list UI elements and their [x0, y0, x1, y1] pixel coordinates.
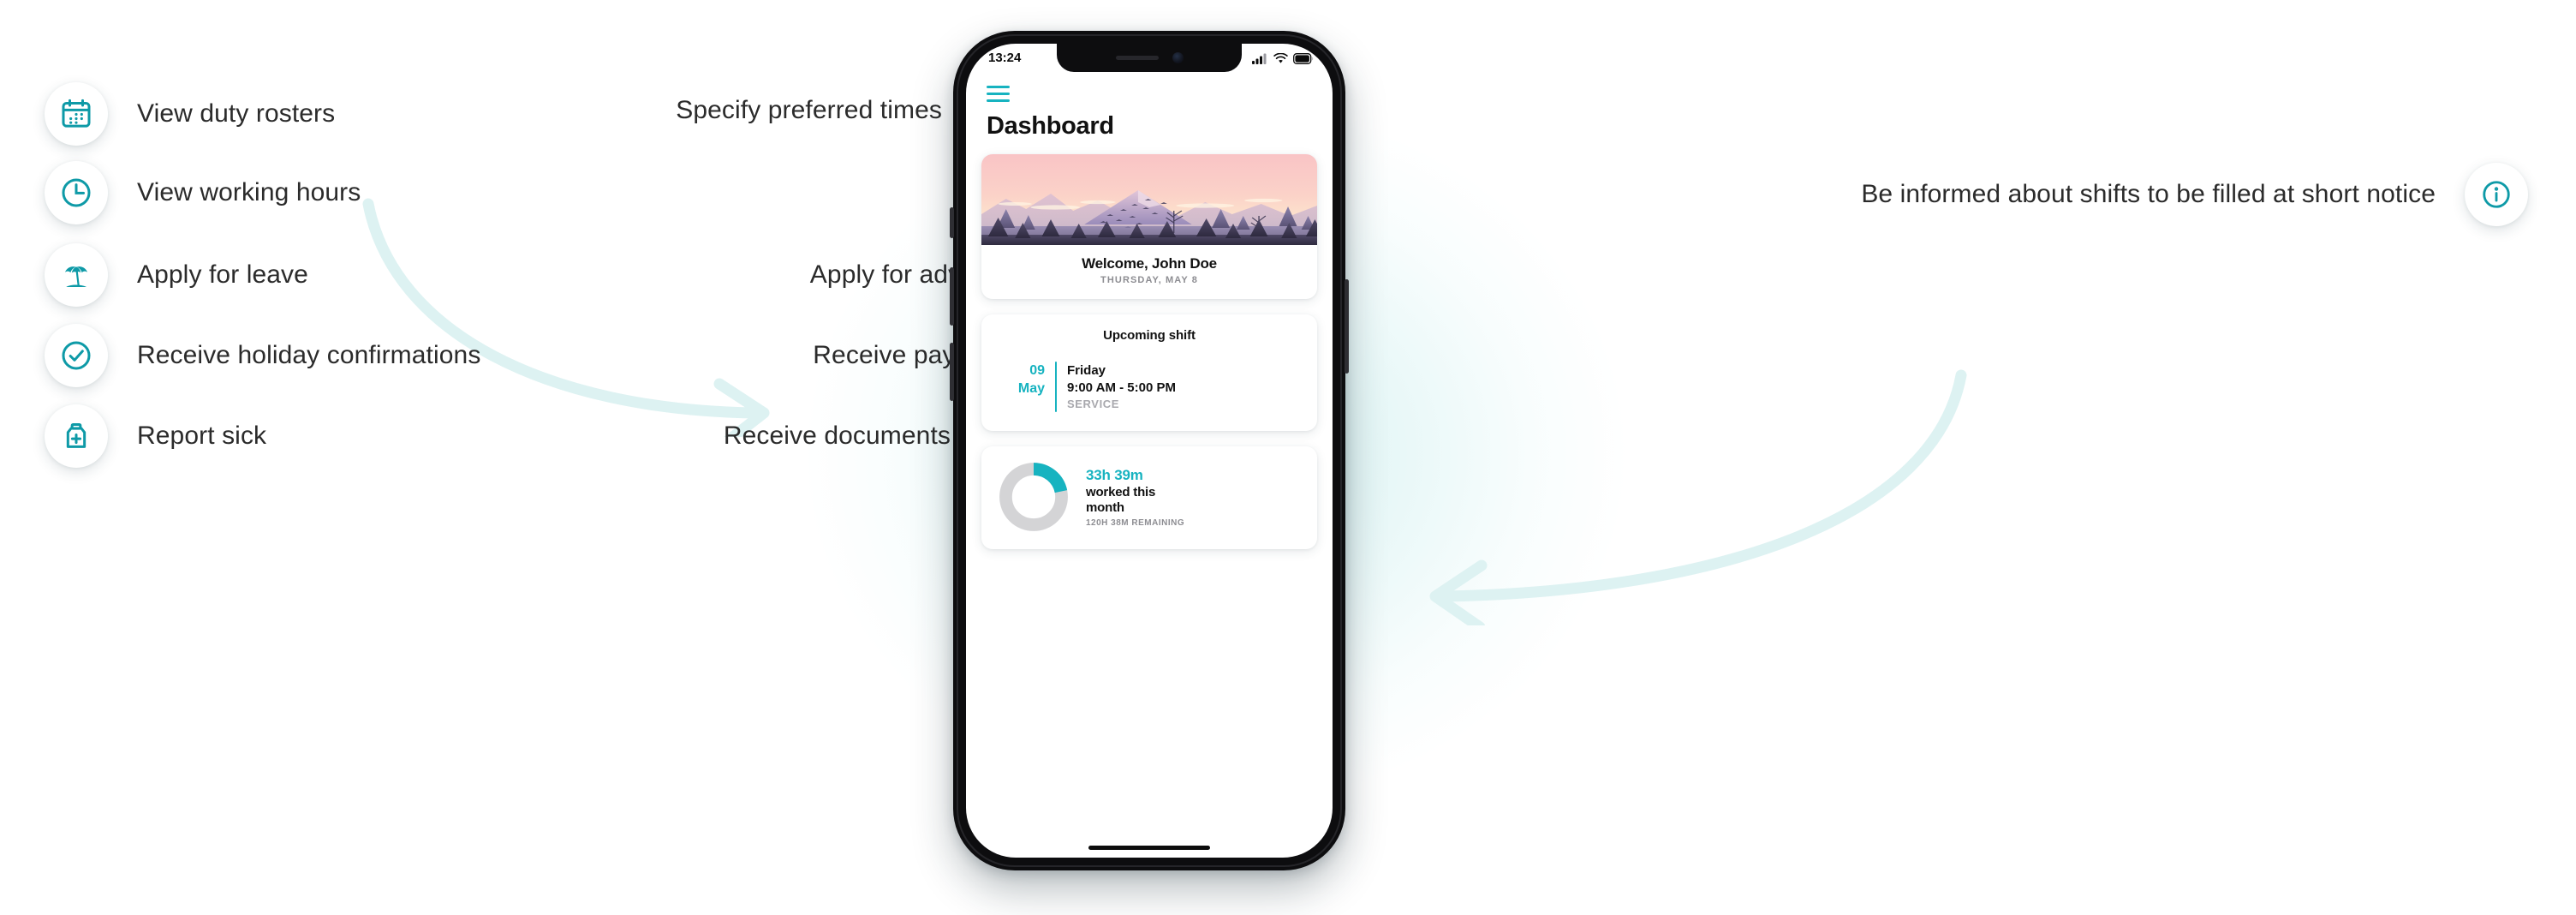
feature-receive-holiday-confirmations[interactable]: Receive holiday confirmations — [45, 324, 480, 387]
shift-month: May — [1017, 380, 1045, 398]
feature-label: View duty rosters — [137, 99, 335, 129]
upcoming-shift-title: Upcoming shift — [981, 328, 1317, 343]
beach-umbrella-icon-bubble — [45, 243, 108, 307]
hours-remaining-label: 120H 38M REMAINING — [1086, 518, 1184, 528]
arrow-right-to-phone — [1370, 351, 1987, 625]
beach-umbrella-icon — [59, 258, 93, 292]
status-time: 13:24 — [988, 51, 1021, 65]
wifi-icon — [1273, 53, 1288, 64]
calendar-icon-bubble — [45, 82, 108, 146]
phone-mockup: 13:24 — [953, 31, 1345, 870]
app-bar: Dashboard — [966, 72, 1333, 141]
donut-progress-chart — [997, 460, 1070, 534]
shift-category: SERVICE — [1067, 397, 1176, 412]
feature-label: Receive documents — [724, 422, 951, 451]
power-button[interactable] — [1345, 279, 1349, 374]
welcome-body: Welcome, John Doe THURSDAY, MAY 8 — [981, 245, 1317, 299]
shift-weekday: Friday — [1067, 362, 1176, 380]
arrow-left-to-phone — [343, 180, 959, 437]
feature-view-working-hours[interactable]: View working hours — [45, 161, 361, 224]
shift-info: Friday 9:00 AM - 5:00 PM SERVICE — [1067, 362, 1176, 412]
welcome-card[interactable]: Welcome, John Doe THURSDAY, MAY 8 — [981, 154, 1317, 299]
volume-down-button[interactable] — [950, 343, 954, 401]
feature-label: Apply for leave — [137, 260, 308, 290]
feature-label: Receive holiday confirmations — [137, 341, 480, 370]
hours-worked-card[interactable]: 33h 39m worked this month 120H 38M REMAI… — [981, 446, 1317, 549]
home-indicator[interactable] — [1088, 846, 1210, 850]
shift-time-range: 9:00 AM - 5:00 PM — [1067, 380, 1176, 397]
clock-icon-bubble — [45, 161, 108, 224]
welcome-greeting: Welcome, John Doe — [990, 255, 1309, 272]
feature-be-informed-short-notice[interactable]: Be informed about shifts to be filled at… — [1861, 163, 2528, 226]
check-circle-icon — [59, 338, 93, 373]
check-circle-icon-bubble — [45, 324, 108, 387]
feature-label: Report sick — [137, 422, 266, 451]
upcoming-shift-card[interactable]: Upcoming shift 09 May Friday 9:00 AM - 5… — [981, 314, 1317, 431]
shift-date: 09 May — [1017, 362, 1055, 398]
shift-divider — [1055, 362, 1057, 412]
first-aid-kit-icon-bubble — [45, 404, 108, 468]
silence-switch[interactable] — [950, 207, 954, 238]
feature-view-duty-rosters[interactable]: View duty rosters — [45, 82, 335, 146]
feature-label: Be informed about shifts to be filled at… — [1861, 180, 2436, 209]
feature-label: View working hours — [137, 178, 361, 207]
feature-report-sick[interactable]: Report sick — [45, 404, 266, 468]
mountain-sunset-illustration — [981, 154, 1317, 245]
first-aid-kit-icon — [59, 419, 93, 453]
feature-apply-for-leave[interactable]: Apply for leave — [45, 243, 308, 307]
hours-text: 33h 39m worked this month 120H 38M REMAI… — [1086, 465, 1184, 528]
infographic-canvas: View duty rosters View working hours App… — [0, 0, 2576, 915]
status-bar: 13:24 — [966, 44, 1333, 72]
shift-row: 09 May Friday 9:00 AM - 5:00 PM SERVICE — [981, 362, 1317, 412]
volume-up-button[interactable] — [950, 267, 954, 326]
welcome-date: THURSDAY, MAY 8 — [990, 275, 1309, 285]
info-circle-icon — [2480, 178, 2513, 211]
hours-worked-value: 33h 39m — [1086, 467, 1184, 485]
calendar-icon — [59, 97, 93, 131]
feature-label: Specify preferred times — [676, 96, 942, 125]
cellular-signal-icon — [1252, 52, 1268, 64]
dashboard-cards: Welcome, John Doe THURSDAY, MAY 8 Upcomi… — [966, 141, 1333, 549]
info-circle-icon-bubble — [2465, 163, 2528, 226]
phone-screen: 13:24 — [966, 44, 1333, 858]
battery-icon — [1293, 53, 1314, 64]
hours-worked-label: worked this month — [1086, 485, 1176, 517]
hamburger-menu-icon[interactable] — [987, 86, 1010, 102]
page-title: Dashboard — [987, 112, 1312, 141]
shift-day-number: 09 — [1017, 362, 1045, 380]
clock-icon — [59, 176, 93, 210]
